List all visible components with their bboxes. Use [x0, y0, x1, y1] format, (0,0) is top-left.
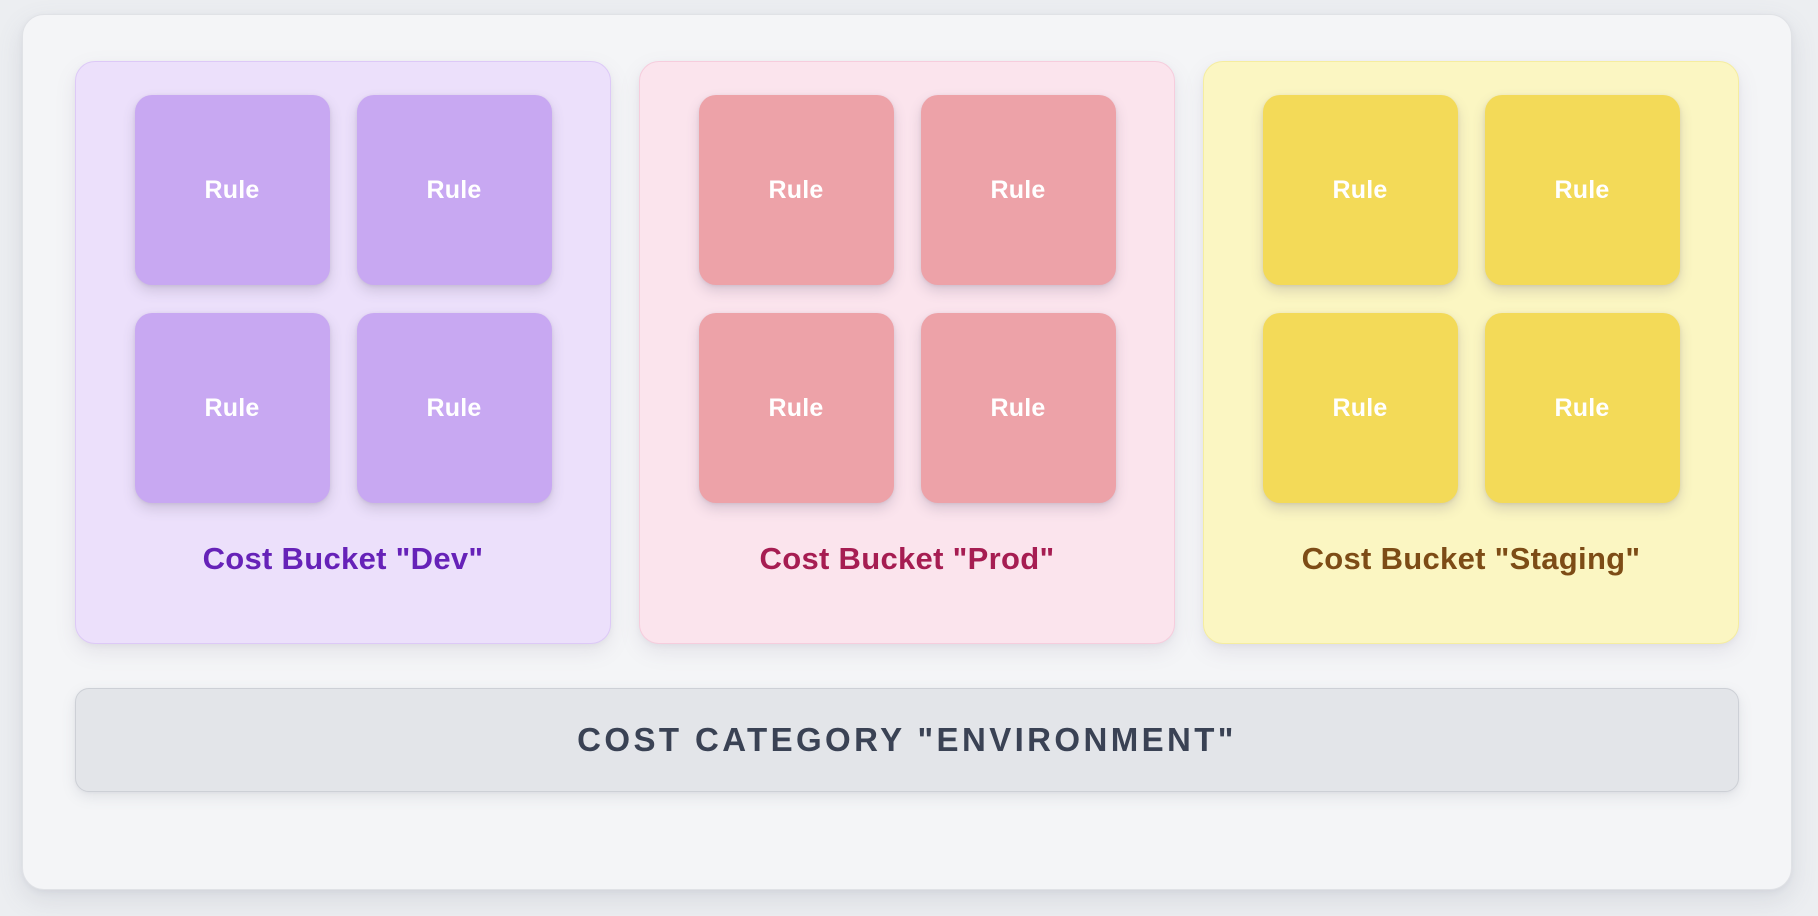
cost-bucket-label-dev: Cost Bucket "Dev" — [203, 541, 484, 577]
cost-bucket-dev[interactable]: Rule Rule Rule Rule Cost Bucket "Dev" — [75, 61, 611, 644]
cost-bucket-staging[interactable]: Rule Rule Rule Rule Cost Bucket "Staging… — [1203, 61, 1739, 644]
rule-card[interactable]: Rule — [921, 95, 1116, 285]
rule-card[interactable]: Rule — [699, 313, 894, 503]
cost-category-bar[interactable]: COST CATEGORY "ENVIRONMENT" — [75, 688, 1739, 792]
cost-category-diagram: Rule Rule Rule Rule Cost Bucket "Dev" Ru… — [22, 14, 1792, 890]
rules-grid-staging: Rule Rule Rule Rule — [1263, 95, 1680, 503]
rule-card[interactable]: Rule — [357, 95, 552, 285]
rules-grid-prod: Rule Rule Rule Rule — [699, 95, 1116, 503]
rule-card[interactable]: Rule — [699, 95, 894, 285]
rule-card[interactable]: Rule — [921, 313, 1116, 503]
rule-card[interactable]: Rule — [135, 313, 330, 503]
cost-category-label: COST CATEGORY "ENVIRONMENT" — [577, 721, 1237, 759]
rule-card[interactable]: Rule — [357, 313, 552, 503]
cost-buckets-row: Rule Rule Rule Rule Cost Bucket "Dev" Ru… — [75, 61, 1739, 644]
cost-bucket-label-staging: Cost Bucket "Staging" — [1302, 541, 1641, 577]
rule-card[interactable]: Rule — [1263, 95, 1458, 285]
cost-bucket-prod[interactable]: Rule Rule Rule Rule Cost Bucket "Prod" — [639, 61, 1175, 644]
rule-card[interactable]: Rule — [135, 95, 330, 285]
rule-card[interactable]: Rule — [1485, 95, 1680, 285]
rule-card[interactable]: Rule — [1263, 313, 1458, 503]
cost-bucket-label-prod: Cost Bucket "Prod" — [760, 541, 1055, 577]
rule-card[interactable]: Rule — [1485, 313, 1680, 503]
rules-grid-dev: Rule Rule Rule Rule — [135, 95, 552, 503]
